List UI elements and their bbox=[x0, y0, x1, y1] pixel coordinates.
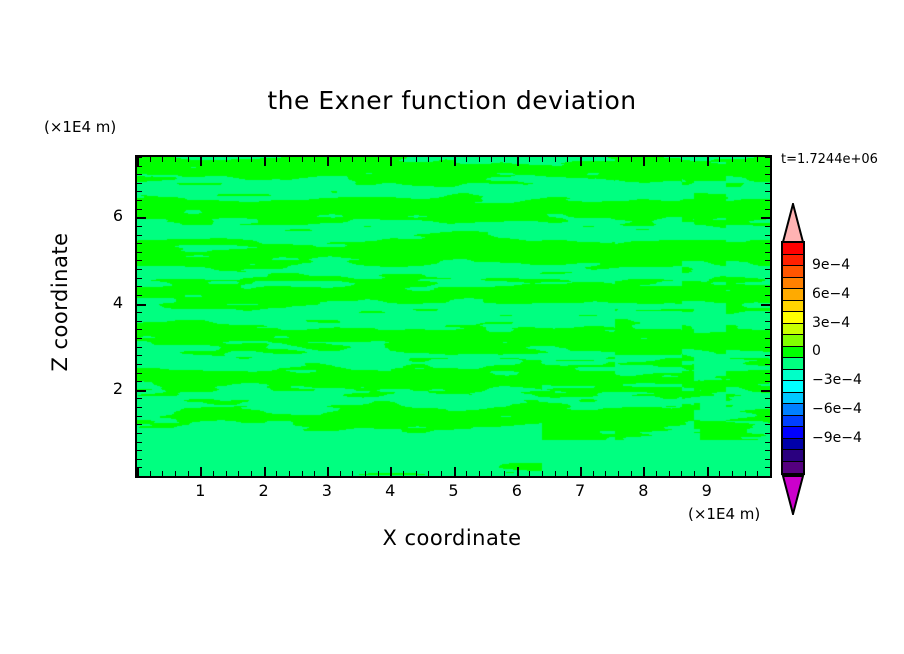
tick-mark bbox=[631, 157, 632, 162]
tick-mark bbox=[137, 157, 139, 166]
tick-mark bbox=[137, 321, 142, 322]
tick-mark bbox=[765, 424, 770, 425]
tick-mark bbox=[441, 157, 442, 162]
tick-mark bbox=[542, 471, 543, 476]
colorbar-tick-label: 6e−4 bbox=[812, 286, 850, 302]
tick-mark bbox=[137, 467, 142, 468]
tick-mark bbox=[681, 157, 682, 162]
tick-mark bbox=[264, 467, 266, 476]
tick-mark bbox=[605, 471, 606, 476]
tick-mark bbox=[529, 157, 530, 162]
tick-mark bbox=[765, 433, 770, 434]
tick-mark bbox=[137, 329, 142, 330]
tick-mark bbox=[137, 338, 142, 339]
tick-mark bbox=[137, 390, 146, 392]
tick-mark bbox=[137, 347, 142, 348]
tick-mark bbox=[137, 364, 142, 365]
colorbar-band bbox=[783, 278, 803, 290]
tick-mark bbox=[302, 471, 303, 476]
tick-mark bbox=[150, 471, 151, 476]
tick-mark bbox=[765, 450, 770, 451]
y-tick-label: 2 bbox=[97, 379, 123, 398]
tick-mark bbox=[390, 157, 392, 166]
tick-mark bbox=[593, 471, 594, 476]
tick-mark bbox=[765, 364, 770, 365]
tick-mark bbox=[137, 450, 142, 451]
tick-mark bbox=[137, 174, 142, 175]
colorbar bbox=[781, 203, 805, 513]
tick-mark bbox=[327, 157, 329, 166]
tick-mark bbox=[618, 471, 619, 476]
colorbar-top-arrow-icon bbox=[781, 203, 805, 243]
tick-mark bbox=[352, 471, 353, 476]
tick-mark bbox=[765, 286, 770, 287]
colorbar-band bbox=[783, 324, 803, 336]
tick-mark bbox=[188, 471, 189, 476]
tick-mark bbox=[765, 381, 770, 382]
tick-mark bbox=[618, 157, 619, 162]
tick-mark bbox=[765, 226, 770, 227]
x-tick-label: 2 bbox=[249, 481, 279, 500]
timestamp-label: t=1.7244e+06 bbox=[781, 152, 878, 167]
tick-mark bbox=[137, 416, 142, 417]
tick-mark bbox=[765, 174, 770, 175]
colorbar-band bbox=[783, 301, 803, 313]
x-tick-label: 1 bbox=[185, 481, 215, 500]
tick-mark bbox=[765, 260, 770, 261]
tick-mark bbox=[732, 471, 733, 476]
tick-mark bbox=[302, 157, 303, 162]
tick-mark bbox=[416, 157, 417, 162]
tick-mark bbox=[226, 157, 227, 162]
tick-mark bbox=[454, 157, 456, 166]
plot-area bbox=[135, 155, 772, 478]
tick-mark bbox=[761, 217, 770, 219]
tick-mark bbox=[162, 471, 163, 476]
colorbar-band bbox=[783, 358, 803, 370]
colorbar-tick-label: 3e−4 bbox=[812, 315, 850, 331]
y-tick-label: 6 bbox=[97, 206, 123, 225]
tick-mark bbox=[765, 191, 770, 192]
tick-mark bbox=[745, 157, 746, 162]
tick-mark bbox=[238, 157, 239, 162]
tick-mark bbox=[314, 471, 315, 476]
tick-mark bbox=[378, 157, 379, 162]
tick-mark bbox=[479, 471, 480, 476]
tick-mark bbox=[137, 381, 142, 382]
tick-mark bbox=[289, 471, 290, 476]
tick-mark bbox=[643, 157, 645, 166]
tick-mark bbox=[137, 209, 142, 210]
tick-mark bbox=[529, 471, 530, 476]
tick-mark bbox=[454, 467, 456, 476]
tick-mark bbox=[314, 157, 315, 162]
colorbar-bands bbox=[781, 241, 805, 475]
y-axis-unit-label: (×1E4 m) bbox=[44, 118, 116, 136]
tick-mark bbox=[491, 471, 492, 476]
tick-mark bbox=[137, 235, 142, 236]
tick-mark bbox=[765, 416, 770, 417]
x-tick-label: 5 bbox=[439, 481, 469, 500]
colorbar-tick-label: 0 bbox=[812, 343, 821, 359]
x-tick-label: 9 bbox=[692, 481, 722, 500]
tick-mark bbox=[137, 459, 142, 460]
tick-mark bbox=[137, 355, 142, 356]
tick-mark bbox=[765, 278, 770, 279]
tick-mark bbox=[200, 467, 202, 476]
tick-mark bbox=[656, 157, 657, 162]
tick-mark bbox=[765, 347, 770, 348]
tick-mark bbox=[555, 157, 556, 162]
tick-mark bbox=[137, 433, 142, 434]
tick-mark bbox=[137, 278, 142, 279]
tick-mark bbox=[340, 157, 341, 162]
tick-mark bbox=[137, 226, 142, 227]
tick-mark bbox=[656, 471, 657, 476]
colorbar-tick-label: −6e−4 bbox=[812, 401, 862, 417]
colorbar-band bbox=[783, 370, 803, 382]
colorbar-band bbox=[783, 335, 803, 347]
tick-mark bbox=[365, 471, 366, 476]
tick-mark bbox=[517, 467, 519, 476]
tick-mark bbox=[213, 471, 214, 476]
tick-mark bbox=[213, 157, 214, 162]
tick-mark bbox=[137, 312, 142, 313]
tick-mark bbox=[694, 157, 695, 162]
tick-mark bbox=[765, 243, 770, 244]
tick-mark bbox=[580, 157, 582, 166]
tick-mark bbox=[137, 424, 142, 425]
tick-mark bbox=[137, 467, 139, 476]
x-tick-label: 7 bbox=[565, 481, 595, 500]
colorbar-band bbox=[783, 289, 803, 301]
tick-mark bbox=[765, 209, 770, 210]
tick-mark bbox=[137, 191, 142, 192]
tick-mark bbox=[137, 183, 142, 184]
colorbar-tick-label: −9e−4 bbox=[812, 430, 862, 446]
colorbar-band bbox=[783, 462, 803, 474]
tick-mark bbox=[765, 467, 770, 468]
colorbar-band bbox=[783, 312, 803, 324]
tick-mark bbox=[765, 166, 770, 167]
tick-mark bbox=[175, 157, 176, 162]
colorbar-band bbox=[783, 347, 803, 359]
tick-mark bbox=[765, 312, 770, 313]
y-axis-title: Z coordinate bbox=[48, 212, 72, 392]
tick-mark bbox=[765, 157, 770, 158]
tick-mark bbox=[352, 157, 353, 162]
tick-mark bbox=[137, 407, 142, 408]
tick-mark bbox=[137, 442, 142, 443]
tick-mark bbox=[555, 471, 556, 476]
tick-mark bbox=[137, 217, 146, 219]
colorbar-tick-label: −3e−4 bbox=[812, 372, 862, 388]
x-tick-label: 6 bbox=[502, 481, 532, 500]
x-tick-label: 8 bbox=[628, 481, 658, 500]
tick-mark bbox=[765, 442, 770, 443]
tick-mark bbox=[238, 471, 239, 476]
tick-mark bbox=[567, 471, 568, 476]
tick-mark bbox=[137, 243, 142, 244]
tick-mark bbox=[416, 471, 417, 476]
colorbar-band bbox=[783, 450, 803, 462]
tick-mark bbox=[403, 157, 404, 162]
tick-mark bbox=[593, 157, 594, 162]
tick-mark bbox=[162, 157, 163, 162]
tick-mark bbox=[504, 471, 505, 476]
y-tick-label: 4 bbox=[97, 293, 123, 312]
tick-mark bbox=[605, 157, 606, 162]
colorbar-band bbox=[783, 439, 803, 451]
colorbar-band bbox=[783, 416, 803, 428]
tick-mark bbox=[765, 338, 770, 339]
colorbar-band bbox=[783, 266, 803, 278]
tick-mark bbox=[669, 157, 670, 162]
tick-mark bbox=[765, 200, 770, 201]
tick-mark bbox=[719, 471, 720, 476]
contour-field bbox=[137, 157, 770, 476]
tick-mark bbox=[707, 467, 709, 476]
tick-mark bbox=[175, 471, 176, 476]
tick-mark bbox=[491, 157, 492, 162]
tick-mark bbox=[137, 373, 142, 374]
tick-mark bbox=[428, 471, 429, 476]
colorbar-band bbox=[783, 427, 803, 439]
tick-mark bbox=[365, 157, 366, 162]
chart-root: the Exner function deviation (×1E4 m) t=… bbox=[0, 0, 904, 654]
tick-mark bbox=[719, 157, 720, 162]
tick-mark bbox=[765, 398, 770, 399]
tick-mark bbox=[765, 235, 770, 236]
tick-mark bbox=[378, 471, 379, 476]
tick-mark bbox=[479, 157, 480, 162]
colorbar-tick-label: 9e−4 bbox=[812, 257, 850, 273]
tick-mark bbox=[765, 183, 770, 184]
tick-mark bbox=[251, 471, 252, 476]
tick-mark bbox=[137, 260, 142, 261]
tick-mark bbox=[137, 157, 142, 158]
tick-mark bbox=[137, 304, 146, 306]
tick-mark bbox=[757, 157, 758, 162]
tick-mark bbox=[340, 471, 341, 476]
tick-mark bbox=[631, 471, 632, 476]
tick-mark bbox=[428, 157, 429, 162]
tick-mark bbox=[137, 295, 142, 296]
tick-mark bbox=[466, 157, 467, 162]
page-title: the Exner function deviation bbox=[0, 86, 904, 115]
colorbar-band bbox=[783, 381, 803, 393]
tick-mark bbox=[761, 390, 770, 392]
x-tick-label: 3 bbox=[312, 481, 342, 500]
tick-mark bbox=[504, 157, 505, 162]
tick-mark bbox=[327, 467, 329, 476]
tick-mark bbox=[643, 467, 645, 476]
colorbar-band bbox=[783, 255, 803, 267]
tick-mark bbox=[264, 157, 266, 166]
tick-mark bbox=[137, 200, 142, 201]
tick-mark bbox=[765, 295, 770, 296]
tick-mark bbox=[137, 286, 142, 287]
tick-mark bbox=[694, 471, 695, 476]
tick-mark bbox=[517, 157, 519, 166]
tick-mark bbox=[745, 471, 746, 476]
tick-mark bbox=[289, 157, 290, 162]
tick-mark bbox=[765, 407, 770, 408]
tick-mark bbox=[732, 157, 733, 162]
tick-mark bbox=[137, 166, 142, 167]
tick-mark bbox=[226, 471, 227, 476]
tick-mark bbox=[765, 459, 770, 460]
x-axis-unit-label: (×1E4 m) bbox=[688, 505, 760, 523]
tick-mark bbox=[669, 471, 670, 476]
tick-mark bbox=[188, 157, 189, 162]
tick-mark bbox=[765, 355, 770, 356]
tick-mark bbox=[137, 269, 142, 270]
tick-mark bbox=[761, 304, 770, 306]
tick-mark bbox=[567, 157, 568, 162]
tick-mark bbox=[707, 157, 709, 166]
tick-mark bbox=[403, 471, 404, 476]
colorbar-band bbox=[783, 404, 803, 416]
colorbar-band bbox=[783, 243, 803, 255]
tick-mark bbox=[200, 157, 202, 166]
tick-mark bbox=[466, 471, 467, 476]
tick-mark bbox=[390, 467, 392, 476]
tick-mark bbox=[137, 398, 142, 399]
x-tick-label: 4 bbox=[375, 481, 405, 500]
tick-mark bbox=[251, 157, 252, 162]
tick-mark bbox=[441, 471, 442, 476]
tick-mark bbox=[765, 269, 770, 270]
tick-mark bbox=[765, 373, 770, 374]
tick-mark bbox=[765, 329, 770, 330]
tick-mark bbox=[765, 252, 770, 253]
tick-mark bbox=[765, 321, 770, 322]
x-axis-title: X coordinate bbox=[0, 526, 904, 550]
tick-mark bbox=[757, 471, 758, 476]
tick-mark bbox=[276, 471, 277, 476]
tick-mark bbox=[542, 157, 543, 162]
tick-mark bbox=[276, 157, 277, 162]
colorbar-band bbox=[783, 393, 803, 405]
tick-mark bbox=[150, 157, 151, 162]
tick-mark bbox=[580, 467, 582, 476]
colorbar-bottom-arrow-icon bbox=[781, 475, 805, 515]
tick-mark bbox=[681, 471, 682, 476]
tick-mark bbox=[137, 252, 142, 253]
